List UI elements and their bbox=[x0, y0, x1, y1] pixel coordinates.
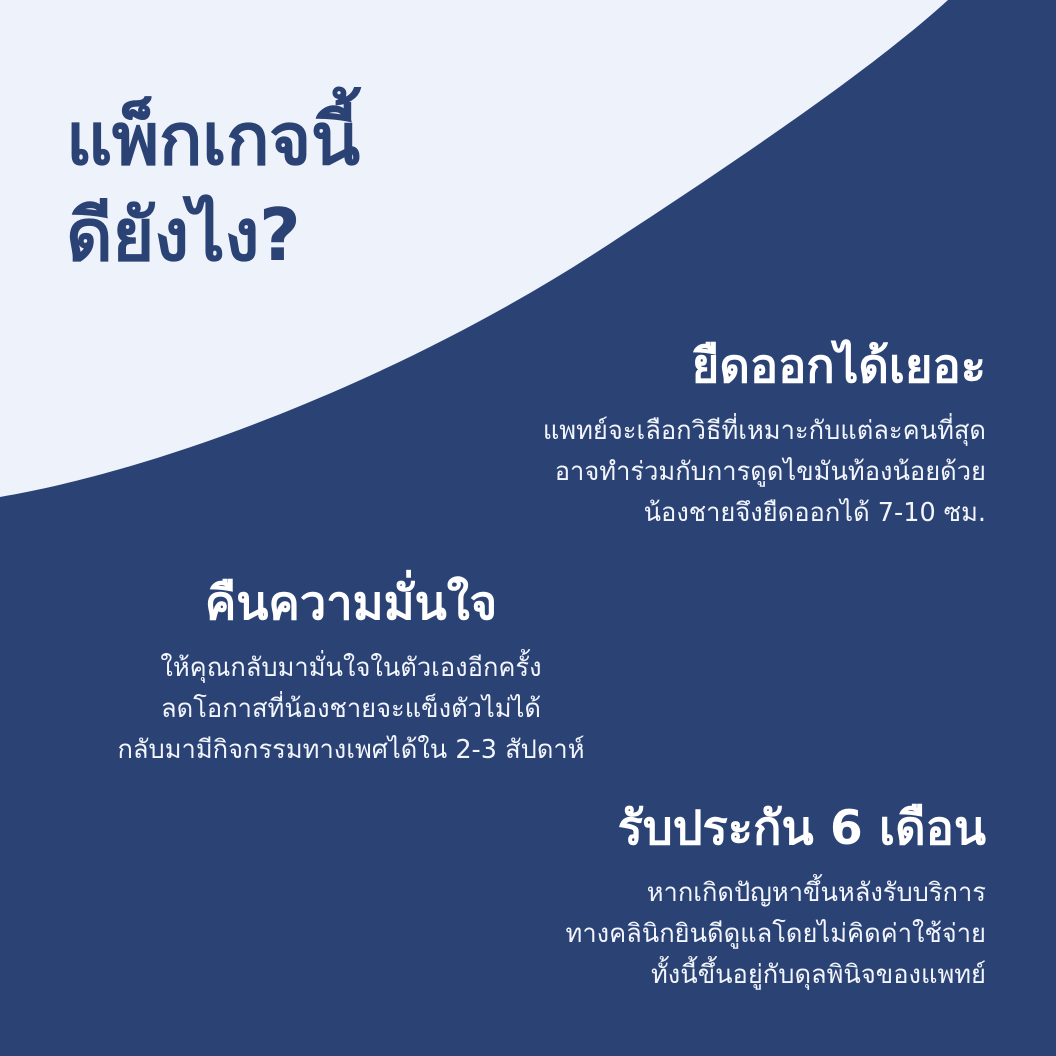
benefit-title-2: คืนความมั่นใจ bbox=[66, 575, 636, 634]
benefit-line-2-2: ลดโอกาสที่น้องชายจะแข็งตัวไม่ได้ bbox=[66, 689, 636, 730]
benefit-block-confidence: คืนความมั่นใจ ให้คุณกลับมามั่นใจในตัวเอง… bbox=[66, 575, 636, 772]
benefit-line-2-1: ให้คุณกลับมามั่นใจในตัวเองอีกครั้ง bbox=[66, 648, 636, 689]
benefit-block-warranty: รับประกัน 6 เดือน หากเกิดปัญหาขึ้นหลังรั… bbox=[566, 800, 986, 997]
benefit-line-2-3: กลับมามีกิจกรรมทางเพศได้ใน 2-3 สัปดาห์ bbox=[66, 730, 636, 771]
content-layer: แพ็กเกจนี้ ดียังไง? ยืดออกได้เยอะ แพทย์จ… bbox=[0, 0, 1056, 1056]
benefit-line-3-3: ทั้งนี้ขึ้นอยู่กับดุลพินิจของแพทย์ bbox=[566, 955, 986, 996]
page-title-line-2: ดียังไง? bbox=[66, 188, 586, 284]
benefit-title-1: ยืดออกได้เยอะ bbox=[543, 338, 986, 397]
page-title-line-1: แพ็กเกจนี้ bbox=[66, 92, 586, 188]
benefit-line-3-1: หากเกิดปัญหาขึ้นหลังรับบริการ bbox=[566, 873, 986, 914]
benefit-line-3-2: ทางคลินิกยินดีดูแลโดยไม่คิดค่าใช้จ่าย bbox=[566, 914, 986, 955]
poster-canvas: แพ็กเกจนี้ ดียังไง? ยืดออกได้เยอะ แพทย์จ… bbox=[0, 0, 1056, 1056]
benefit-block-stretch: ยืดออกได้เยอะ แพทย์จะเลือกวิธีที่เหมาะกั… bbox=[543, 338, 986, 535]
benefit-line-1-1: แพทย์จะเลือกวิธีที่เหมาะกับแต่ละคนที่สุด bbox=[543, 411, 986, 452]
page-title: แพ็กเกจนี้ ดียังไง? bbox=[66, 92, 586, 284]
benefit-line-1-2: อาจทำร่วมกับการดูดไขมันท้องน้อยด้วย bbox=[543, 452, 986, 493]
benefit-line-1-3: น้องชายจึงยืดออกได้ 7-10 ซม. bbox=[543, 493, 986, 534]
benefit-title-3: รับประกัน 6 เดือน bbox=[566, 800, 986, 859]
